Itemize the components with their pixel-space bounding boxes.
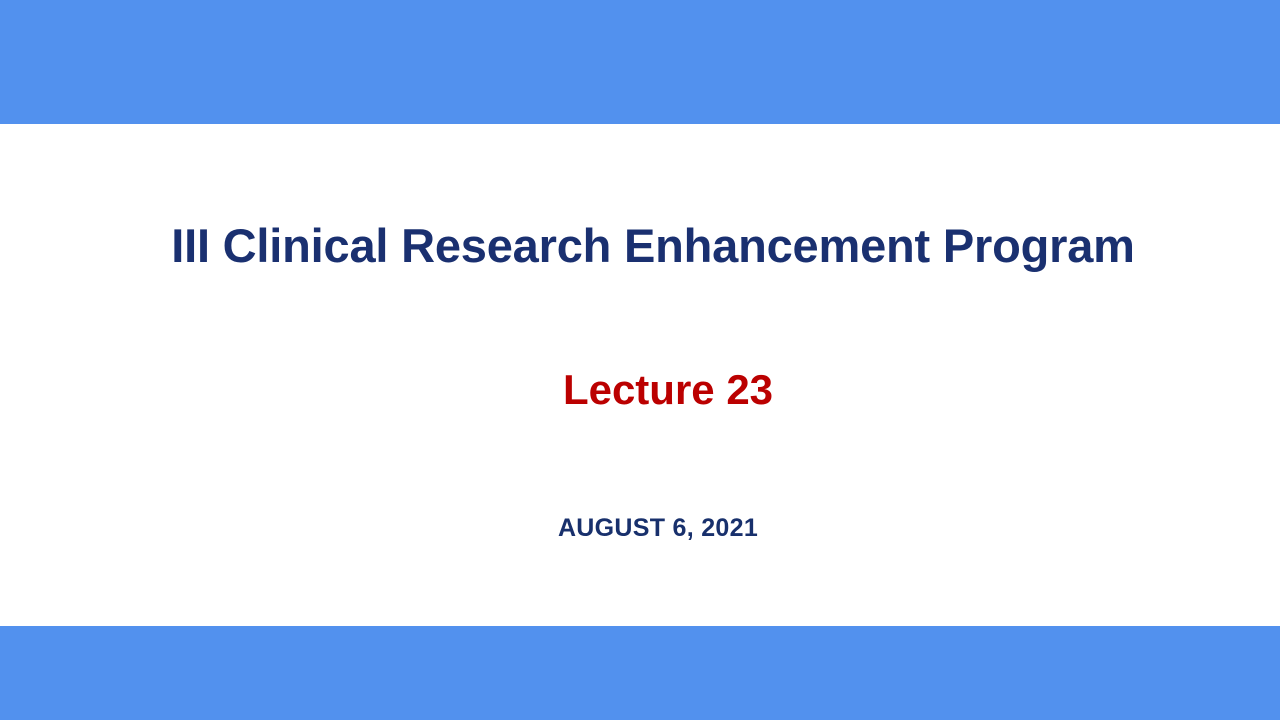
slide-subtitle-lecture-number: Lecture 23	[0, 364, 1280, 416]
slide-content-area: III Clinical Research Enhancement Progra…	[0, 124, 1280, 626]
title-slide: III Clinical Research Enhancement Progra…	[0, 0, 1280, 720]
bottom-blue-band	[0, 626, 1280, 720]
slide-date: AUGUST 6, 2021	[0, 512, 1280, 544]
top-blue-band	[0, 0, 1280, 124]
slide-title: III Clinical Research Enhancement Progra…	[0, 216, 1280, 276]
